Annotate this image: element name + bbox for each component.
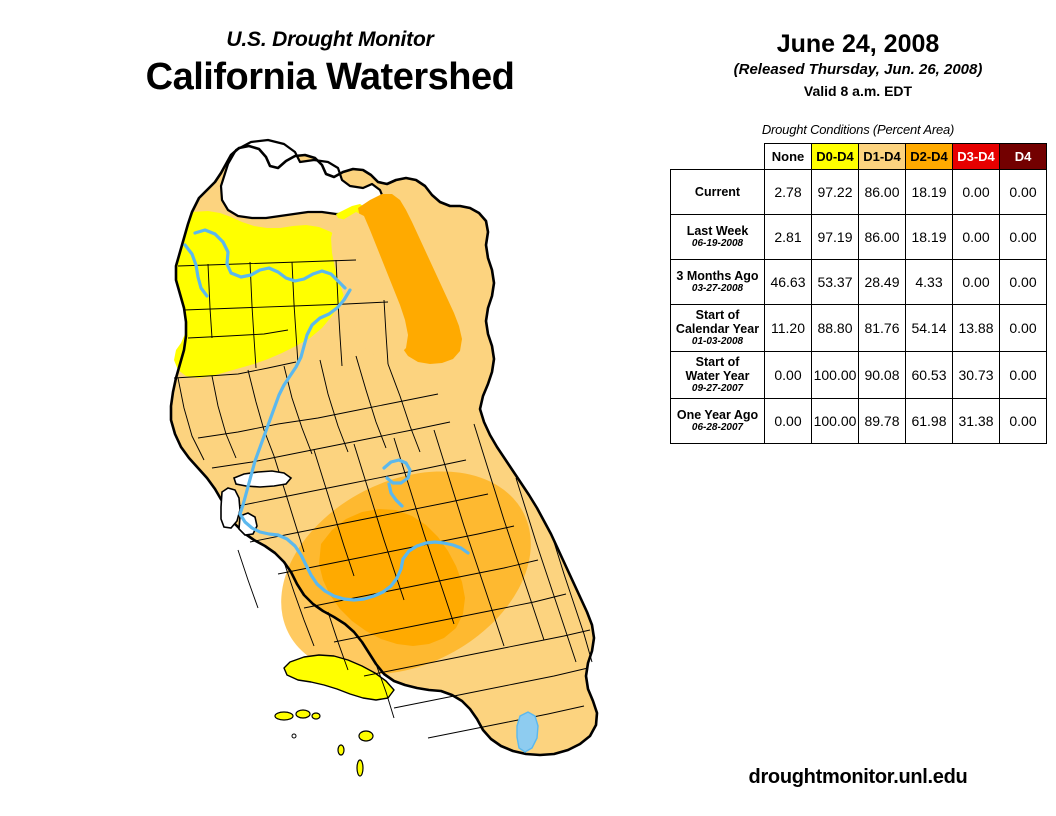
- table-cell: 60.53: [906, 352, 953, 399]
- table-row: Start ofWater Year09-27-20070.00100.0090…: [671, 352, 1047, 399]
- island-small: [292, 734, 296, 738]
- table-cell: 0.00: [1000, 260, 1047, 305]
- table-header-row: None D0-D4 D1-D4 D2-D4 D3-D4 D4: [671, 144, 1047, 170]
- row-date: 03-27-2008: [673, 283, 762, 295]
- row-label: Last Week06-19-2008: [671, 215, 765, 260]
- row-date: 06-28-2007: [673, 422, 762, 434]
- table-cell: 54.14: [906, 305, 953, 352]
- row-label: 3 Months Ago03-27-2008: [671, 260, 765, 305]
- table-cell: 0.00: [953, 260, 1000, 305]
- table-cell: 100.00: [812, 352, 859, 399]
- column-header-d2d4: D2-D4: [906, 144, 953, 170]
- column-header-d4: D4: [1000, 144, 1047, 170]
- page-title: California Watershed: [0, 54, 660, 100]
- table-cell: 18.19: [906, 170, 953, 215]
- table-row: Current2.7897.2286.0018.190.000.00: [671, 170, 1047, 215]
- report-date: June 24, 2008: [660, 30, 1056, 59]
- row-label: Current: [671, 170, 765, 215]
- valid-time: Valid 8 a.m. EDT: [660, 82, 1056, 101]
- table-cell: 90.08: [859, 352, 906, 399]
- table-row: 3 Months Ago03-27-200846.6353.3728.494.3…: [671, 260, 1047, 305]
- table-cell: 31.38: [953, 399, 1000, 444]
- table-body: Current2.7897.2286.0018.190.000.00Last W…: [671, 170, 1047, 444]
- release-date: (Released Thursday, Jun. 26, 2008): [660, 60, 1056, 80]
- table-cell: 97.19: [812, 215, 859, 260]
- table-cell: 2.78: [765, 170, 812, 215]
- table-cell: 18.19: [906, 215, 953, 260]
- row-label: One Year Ago06-28-2007: [671, 399, 765, 444]
- column-header-none: None: [765, 144, 812, 170]
- table-cell: 0.00: [765, 399, 812, 444]
- table-cell: 30.73: [953, 352, 1000, 399]
- table-row: Start ofCalendar Year01-03-200811.2088.8…: [671, 305, 1047, 352]
- table-cell: 2.81: [765, 215, 812, 260]
- table-cell: 0.00: [1000, 305, 1047, 352]
- date-block: June 24, 2008 (Released Thursday, Jun. 2…: [660, 30, 1056, 101]
- table-cell: 97.22: [812, 170, 859, 215]
- table-cell: 86.00: [859, 215, 906, 260]
- row-label: Start ofCalendar Year01-03-2008: [671, 305, 765, 352]
- row-date: 06-19-2008: [673, 238, 762, 250]
- column-header-d0d4: D0-D4: [812, 144, 859, 170]
- column-header-d3d4: D3-D4: [953, 144, 1000, 170]
- table-cell: 0.00: [1000, 352, 1047, 399]
- table-corner-cell: [671, 144, 765, 170]
- table-cell: 0.00: [1000, 170, 1047, 215]
- table-cell: 100.00: [812, 399, 859, 444]
- table-cell: 11.20: [765, 305, 812, 352]
- table-cell: 0.00: [953, 215, 1000, 260]
- title-block: U.S. Drought Monitor California Watershe…: [0, 28, 660, 100]
- table-cell: 13.88: [953, 305, 1000, 352]
- row-date: 01-03-2008: [673, 336, 762, 348]
- table-cell: 0.00: [953, 170, 1000, 215]
- map-panel: U.S. Drought Monitor California Watershe…: [0, 0, 660, 816]
- table-cell: 0.00: [765, 352, 812, 399]
- drought-conditions-table: None D0-D4 D1-D4 D2-D4 D3-D4 D4 Current2…: [670, 143, 1047, 444]
- table-cell: 53.37: [812, 260, 859, 305]
- table-row: Last Week06-19-20082.8197.1986.0018.190.…: [671, 215, 1047, 260]
- table-row: One Year Ago06-28-20070.00100.0089.7861.…: [671, 399, 1047, 444]
- agency-subtitle: U.S. Drought Monitor: [0, 28, 660, 52]
- site-url[interactable]: droughtmonitor.unl.edu: [660, 766, 1056, 789]
- table-cell: 4.33: [906, 260, 953, 305]
- table-cell: 89.78: [859, 399, 906, 444]
- table-cell: 0.00: [1000, 399, 1047, 444]
- table-cell: 0.00: [1000, 215, 1047, 260]
- table-cell: 28.49: [859, 260, 906, 305]
- california-watershed-map[interactable]: [88, 138, 613, 803]
- info-panel: June 24, 2008 (Released Thursday, Jun. 2…: [660, 0, 1056, 816]
- column-header-d1d4: D1-D4: [859, 144, 906, 170]
- table-cell: 61.98: [906, 399, 953, 444]
- row-label: Start ofWater Year09-27-2007: [671, 352, 765, 399]
- row-date: 09-27-2007: [673, 383, 762, 395]
- drought-map[interactable]: [88, 138, 613, 803]
- table-caption: Drought Conditions (Percent Area): [660, 122, 1056, 137]
- table-cell: 46.63: [765, 260, 812, 305]
- table-cell: 86.00: [859, 170, 906, 215]
- table-cell: 81.76: [859, 305, 906, 352]
- table-cell: 88.80: [812, 305, 859, 352]
